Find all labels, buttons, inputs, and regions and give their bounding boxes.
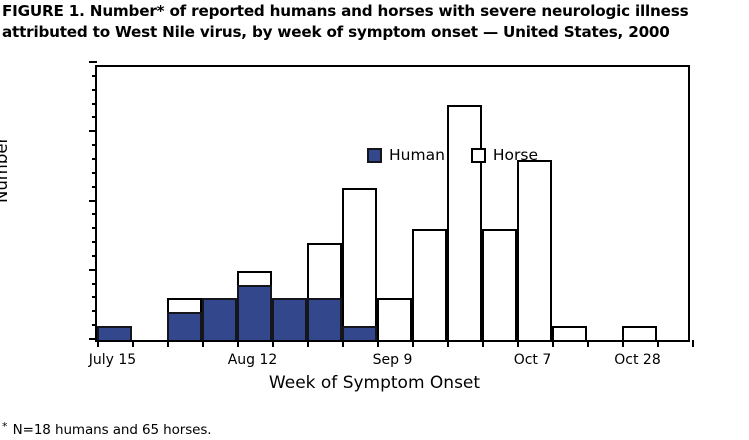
bar-horse-12 [517,160,552,340]
bar-horse-11 [482,229,517,340]
y-tick-11 [92,186,97,188]
y-tick-18 [92,89,97,91]
x-tick-9 [412,340,414,347]
y-tick-20 [89,61,97,63]
x-tick-3 [202,340,204,347]
bar-horse-7 [342,188,377,340]
x-tick-2 [167,340,169,347]
y-tick-19 [92,75,97,77]
y-tick-13 [92,158,97,160]
x-tick-12 [517,340,519,347]
x-axis-label-3: Oct 7 [514,352,552,368]
bar-human-3 [202,298,237,340]
x-tick-6 [307,340,309,347]
footnote-marker: * [2,420,7,433]
x-axis-label-2: Sep 9 [373,352,413,368]
x-tick-13 [552,340,554,347]
legend-label-horse: Horse [493,146,538,164]
x-tick-8 [377,340,379,347]
y-tick-10 [89,200,97,202]
y-tick-8 [92,227,97,229]
x-tick-14 [587,340,589,347]
bar-human-0 [97,326,132,340]
y-tick-14 [92,144,97,146]
x-tick-17 [692,340,694,347]
x-axis-title: Week of Symptom Onset [0,373,749,393]
legend-item-horse: Horse [471,146,538,164]
y-tick-3 [92,296,97,298]
y-tick-2 [92,310,97,312]
y-tick-9 [92,213,97,215]
x-tick-0 [97,340,99,347]
x-tick-1 [132,340,134,347]
bar-human-6 [307,298,342,340]
y-tick-4 [92,283,97,285]
bar-human-2 [167,312,202,340]
y-tick-6 [92,255,97,257]
legend-label-human: Human [389,146,445,164]
bar-human-4 [237,285,272,340]
footnote-text: N=18 humans and 65 horses. [13,422,212,438]
x-tick-5 [272,340,274,347]
x-axis-label-1: Aug 12 [228,352,278,368]
figure-footnote: * N=18 humans and 65 horses. [2,420,212,438]
bar-human-7 [342,326,377,340]
plot-area: HumanHorse [95,65,690,342]
chart-container: Number HumanHorse 05101520 July 15Aug 12… [0,0,749,440]
x-tick-4 [237,340,239,347]
bar-horse-13 [552,326,587,340]
y-tick-16 [92,116,97,118]
y-axis-title: Number [0,137,11,203]
bar-horse-8 [377,298,412,340]
x-tick-7 [342,340,344,347]
x-axis-label-4: Oct 28 [614,352,660,368]
bars-layer [97,67,688,340]
y-tick-15 [89,130,97,132]
bar-horse-10 [447,105,482,340]
x-tick-10 [447,340,449,347]
legend-swatch-human [367,148,382,163]
legend-item-human: Human [367,146,445,164]
chart-legend: HumanHorse [367,146,538,164]
bar-horse-15 [622,326,657,340]
y-tick-7 [92,241,97,243]
y-tick-0 [89,338,97,340]
x-tick-11 [482,340,484,347]
bar-human-5 [272,298,307,340]
x-tick-15 [622,340,624,347]
y-tick-12 [92,172,97,174]
x-tick-16 [657,340,659,347]
bar-horse-9 [412,229,447,340]
y-tick-17 [92,103,97,105]
x-axis-label-0: July 15 [89,352,136,368]
legend-swatch-horse [471,148,486,163]
y-tick-5 [89,269,97,271]
